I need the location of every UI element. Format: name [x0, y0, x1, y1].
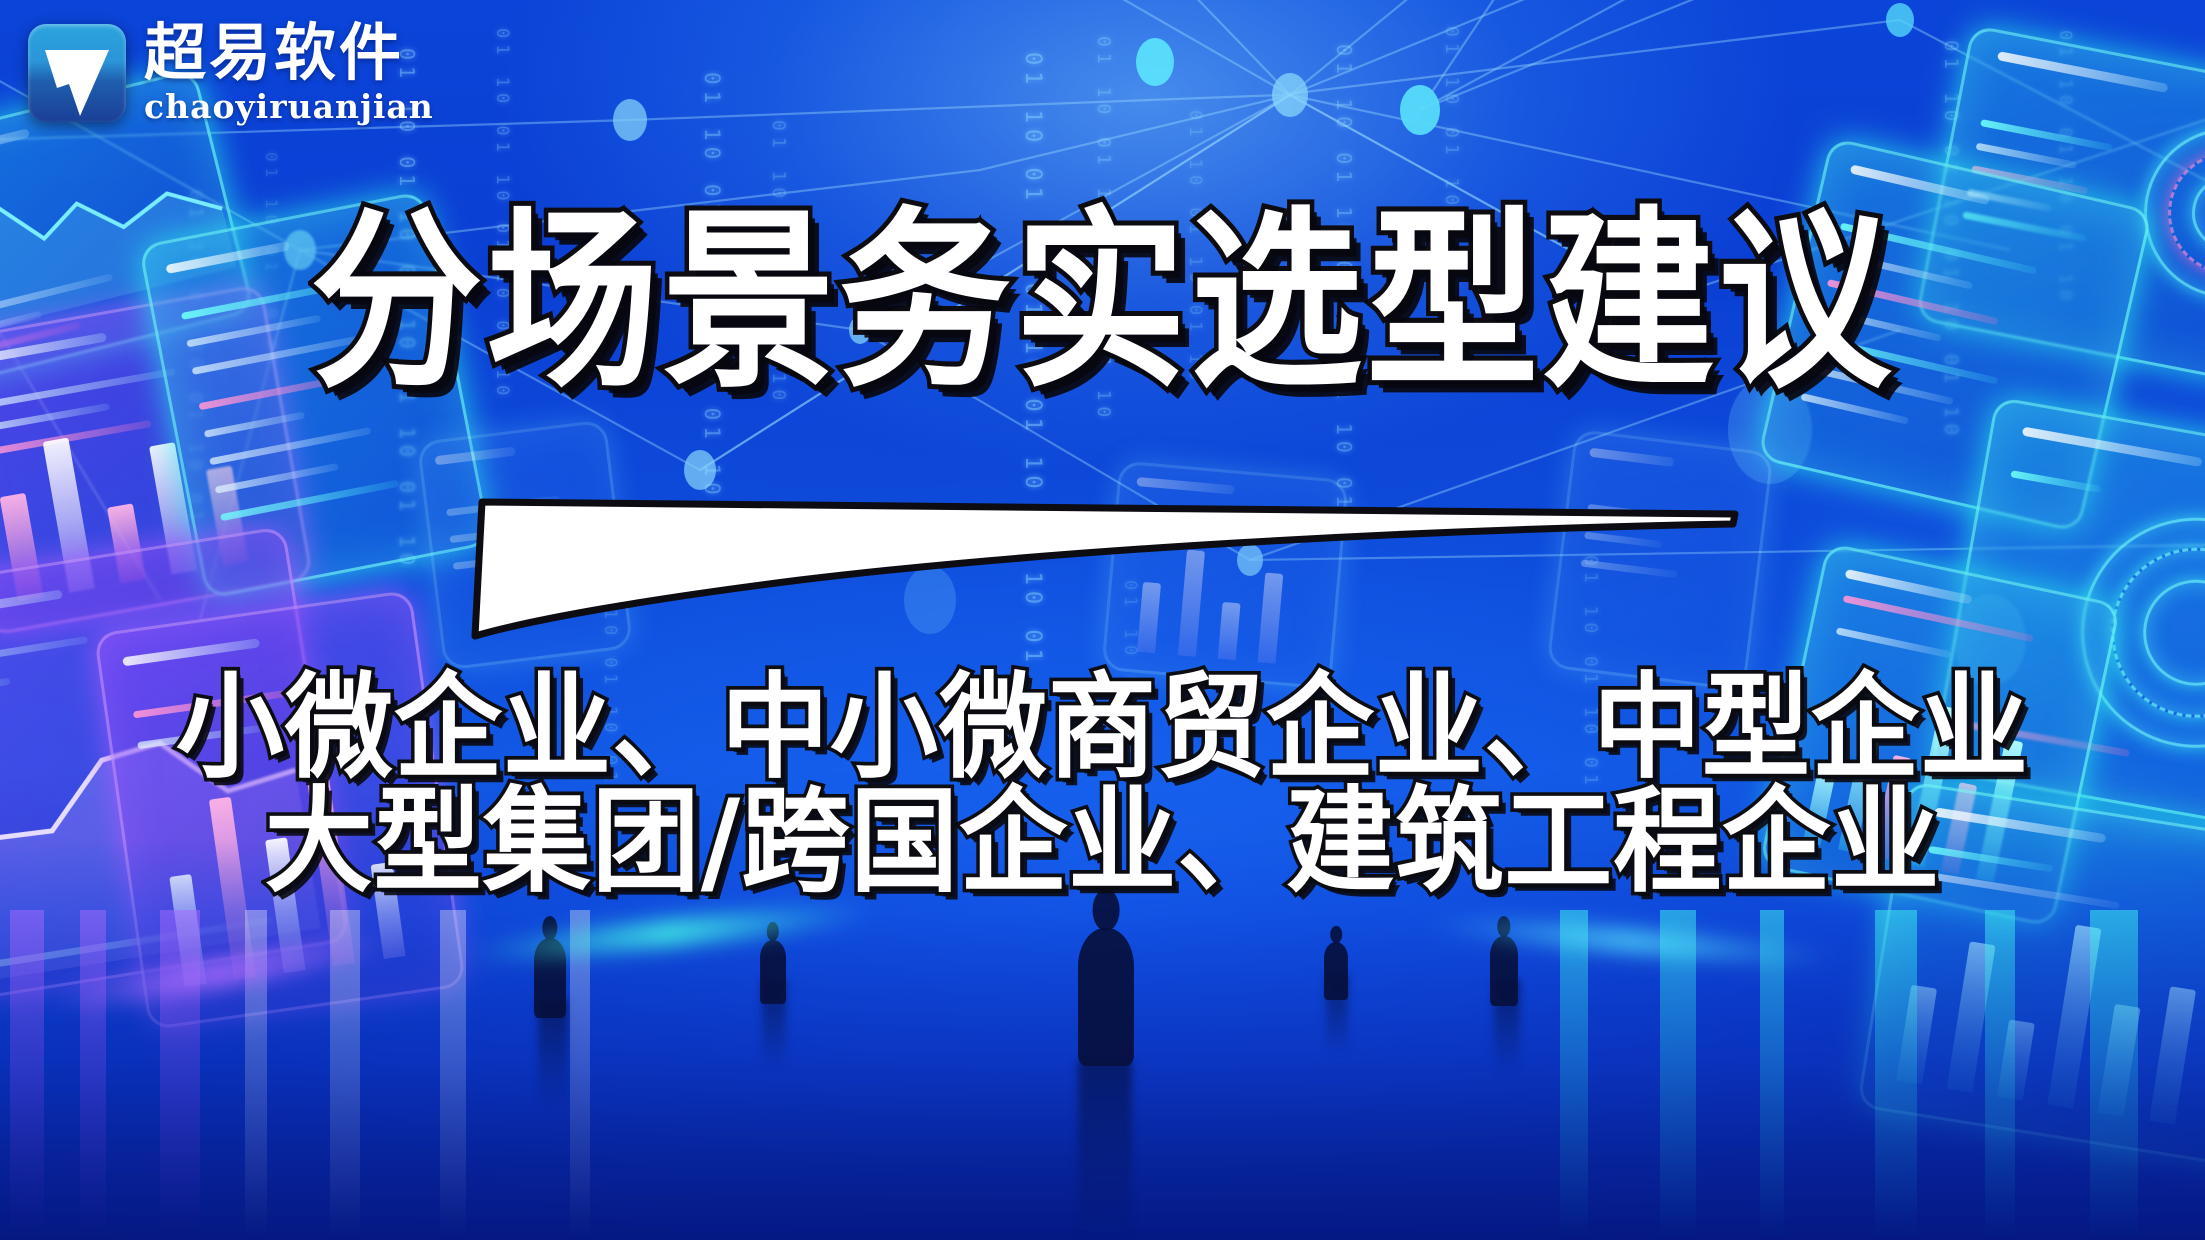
- brand-name-cn: 超易软件: [144, 22, 434, 84]
- panel-row: [1975, 142, 2077, 168]
- page-title: 分场景务实选型建议: [305, 206, 1901, 399]
- panel-header-bar: [0, 128, 30, 174]
- panel-row: [1980, 119, 2113, 151]
- swoosh-svg: [0, 478, 2205, 648]
- subtitle-line-1: 小微企业、中小微商贸企业、中型企业: [0, 669, 2205, 790]
- panel-header-bar: [1997, 51, 2169, 93]
- panel-row: [1971, 165, 2088, 194]
- title-underline-swoosh: [0, 478, 2205, 653]
- panel-row: [0, 403, 110, 432]
- chaoyi-y-logo-icon: [28, 24, 126, 122]
- brand-wordmark: 超易软件 chaoyiruanjian: [144, 22, 434, 123]
- panel-row: [0, 420, 152, 456]
- panel-row: [209, 427, 372, 465]
- panel-row: [203, 412, 305, 438]
- panel-header-bar: [434, 447, 515, 466]
- panel-header-bar: [1589, 448, 1675, 467]
- panel-header-bar: [2022, 427, 2203, 467]
- subtitle-line-2: 大型集团/跨国企业、建筑工程企业: [0, 783, 2205, 904]
- poster-canvas: 01 10 01 10 01 10 01 10 01 10 01 10 01 1…: [0, 0, 2205, 1240]
- brand-name-en: chaoyiruanjian: [144, 90, 434, 123]
- subtitle-block: 小微企业、中小微商贸企业、中型企业 大型集团/跨国企业、建筑工程企业: [0, 672, 2205, 901]
- brand-logo[interactable]: 超易软件 chaoyiruanjian: [28, 22, 434, 123]
- headline-block: 分场景务实选型建议: [0, 206, 2205, 378]
